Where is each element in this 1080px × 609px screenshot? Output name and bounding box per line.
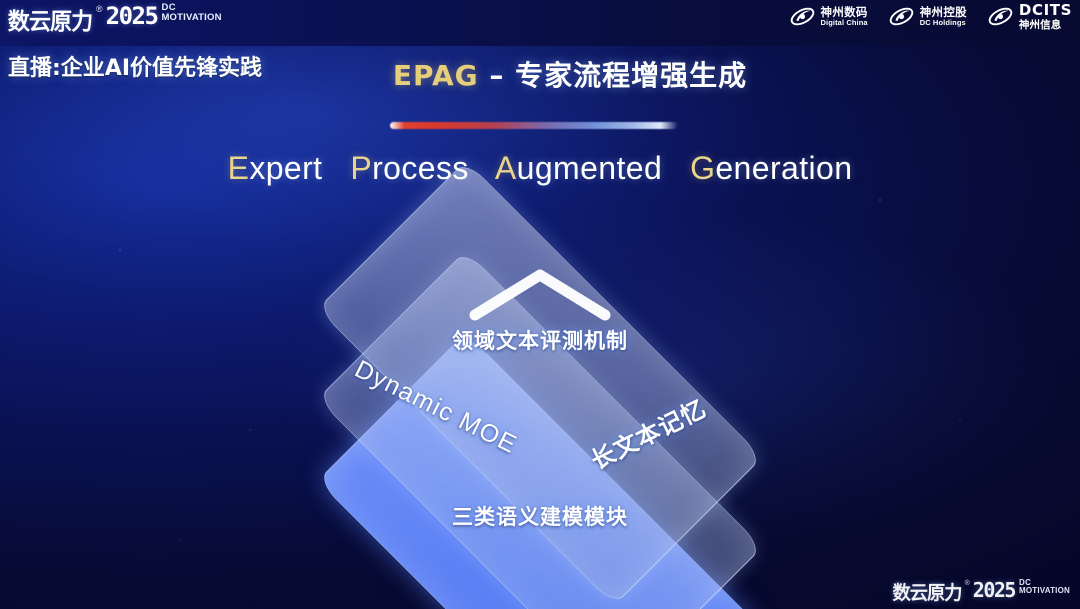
gradient-divider <box>390 122 678 129</box>
subtitle-word-rest: eneration <box>715 150 852 186</box>
partner-logo-group: 神州数码 Digital China 神州控股 DC Holdings <box>789 3 1072 31</box>
partner-label: DCITS 神州信息 <box>1019 3 1072 31</box>
partner-name-cn: 神州信息 <box>1019 20 1072 31</box>
partner-label: 神州数码 Digital China <box>821 6 868 27</box>
page-title-acronym: EPAG <box>393 59 479 92</box>
subtitle-initial: P <box>350 150 372 186</box>
layer-label-bottom: 三类语义建模模块 <box>452 501 628 531</box>
brand-logo-motivation: MOTIVATION <box>161 13 221 23</box>
watermark-logo-year: 2025 <box>973 578 1015 602</box>
top-header-bar: 数云原力 ® 2025 DC MOTIVATION 神州数码 <box>0 0 1080 46</box>
watermark-dc-motivation: DC MOTIVATION <box>1019 579 1070 595</box>
brand-logo-registered-mark: ® <box>96 4 103 14</box>
layered-architecture-diagram: 领域文本评测机制 Dynamic MOE 长文本记忆 三类语义建模模块 <box>205 215 875 585</box>
subtitle-initial: A <box>495 150 517 186</box>
brand-logo: 数云原力 ® 2025 DC MOTIVATION <box>6 2 222 36</box>
subtitle-word: Generation <box>690 150 852 186</box>
page-title-separator: – <box>479 59 516 92</box>
layer-label-top: 领域文本评测机制 <box>452 325 628 355</box>
subtitle-word: Process <box>350 150 468 186</box>
brand-logo-year: 2025 <box>106 2 158 30</box>
partner-logo-dcits: DCITS 神州信息 <box>987 3 1072 31</box>
partner-name-en: Digital China <box>821 19 868 27</box>
partner-name-en: DC Holdings <box>920 19 967 27</box>
swoosh-icon <box>789 3 816 30</box>
subtitle-word-rest: xpert <box>249 150 322 186</box>
subtitle-space <box>671 150 680 186</box>
subtitle-word-rest: rocess <box>372 150 469 186</box>
footer-watermark-logo: 数云原力 ® 2025 DC MOTIVATION <box>891 578 1070 605</box>
swoosh-icon <box>888 3 915 30</box>
watermark-logo-chinese: 数云原力 <box>892 578 961 605</box>
watermark-motivation: MOTIVATION <box>1019 587 1070 595</box>
subtitle-space <box>478 150 487 186</box>
brand-logo-chinese: 数云原力 <box>8 2 92 36</box>
subtitle-initial: G <box>690 150 715 186</box>
subtitle-word: Expert <box>228 150 323 186</box>
watermark-registered-mark: ® <box>965 580 970 587</box>
partner-logo-dc-holdings: 神州控股 DC Holdings <box>888 3 967 30</box>
slide-canvas: 数云原力 ® 2025 DC MOTIVATION 神州数码 <box>0 0 1080 609</box>
livestream-title: 直播:企业AI价值先锋实践 <box>8 50 262 82</box>
subtitle-space <box>332 150 341 186</box>
brand-logo-dc-motivation: DC MOTIVATION <box>161 3 221 22</box>
partner-name-cn: 神州数码 <box>821 6 868 18</box>
page-title-chinese: 专家流程增强生成 <box>515 59 747 92</box>
subtitle-initial: E <box>228 150 250 186</box>
subtitle-expansion: Expert Process Augmented Generation <box>0 150 1080 187</box>
partner-logo-digital-china: 神州数码 Digital China <box>789 3 868 30</box>
partner-label: 神州控股 DC Holdings <box>920 6 967 27</box>
swoosh-icon <box>987 3 1014 30</box>
chevron-up-icon <box>465 263 615 330</box>
partner-name-cn: 神州控股 <box>920 6 967 18</box>
subtitle-word: Augmented <box>495 150 662 186</box>
partner-name-en: DCITS <box>1019 3 1072 19</box>
subtitle-word-rest: ugmented <box>517 150 663 186</box>
